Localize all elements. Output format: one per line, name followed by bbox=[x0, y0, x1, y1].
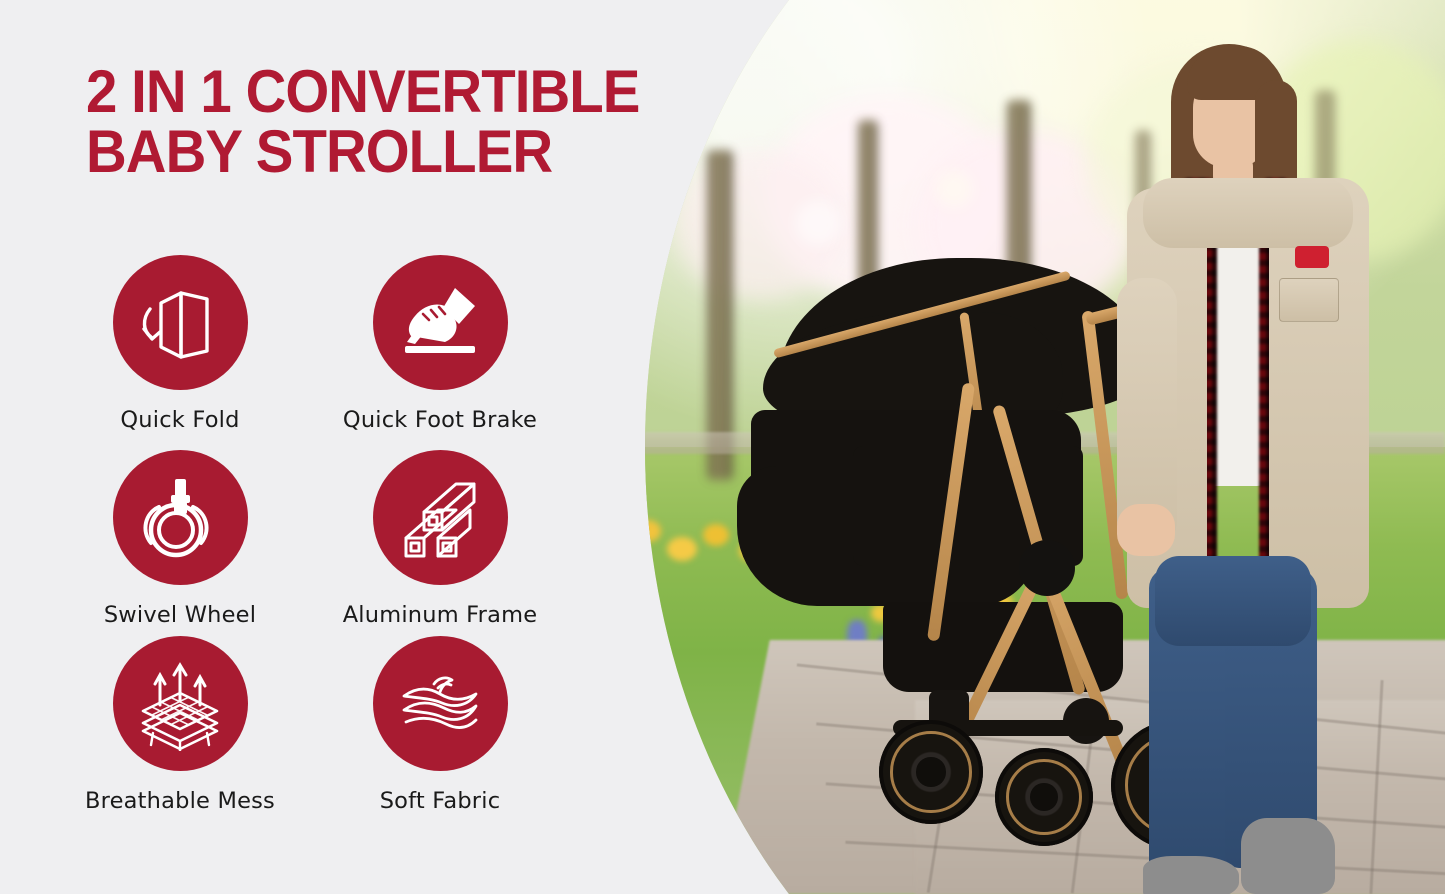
jacket-chest-pocket bbox=[1279, 278, 1339, 322]
product-photo-region bbox=[615, 0, 1445, 894]
feature-label: Swivel Wheel bbox=[50, 602, 310, 628]
aluminum-frame-icon bbox=[394, 472, 486, 564]
tree-trunk bbox=[707, 150, 733, 480]
feature-grid: Quick Fold Quick Foot Brake bbox=[0, 255, 700, 865]
headline-line-1: 2 IN 1 CONVERTIBLE bbox=[86, 62, 669, 122]
bokeh-highlight bbox=[935, 170, 973, 208]
swivel-wheel-icon bbox=[135, 473, 225, 563]
feature-item-quick-foot-brake: Quick Foot Brake bbox=[310, 255, 570, 433]
feature-item-soft-fabric: Soft Fabric bbox=[310, 636, 570, 814]
hand bbox=[1117, 504, 1175, 556]
jacket-shoulders bbox=[1143, 178, 1353, 248]
feature-label: Aluminum Frame bbox=[310, 602, 570, 628]
headline-line-2: BABY STROLLER bbox=[86, 122, 669, 182]
feature-item-quick-fold: Quick Fold bbox=[50, 255, 310, 433]
fold-icon bbox=[134, 277, 226, 369]
page-title: 2 IN 1 CONVERTIBLE BABY STROLLER bbox=[86, 62, 669, 182]
feature-icon-badge bbox=[113, 255, 248, 390]
sneaker-right bbox=[1241, 818, 1335, 894]
wheel-hub bbox=[916, 757, 945, 786]
feature-label: Quick Fold bbox=[50, 407, 310, 433]
sneaker-left bbox=[1143, 856, 1239, 894]
wheel-hub bbox=[1030, 783, 1057, 810]
photo-ellipse-mask bbox=[615, 0, 1445, 894]
lifestyle-photo bbox=[615, 0, 1445, 894]
daffodil bbox=[667, 537, 697, 561]
middle-wheel bbox=[995, 748, 1093, 846]
front-wheel bbox=[879, 720, 983, 824]
feature-label: Breathable Mess bbox=[50, 788, 310, 814]
feature-label: Quick Foot Brake bbox=[310, 407, 570, 433]
bokeh-highlight bbox=[795, 200, 841, 246]
feature-item-aluminum-frame: Aluminum Frame bbox=[310, 450, 570, 628]
model-person bbox=[1083, 28, 1383, 894]
jacket-logo-patch bbox=[1295, 246, 1329, 268]
feature-icon-badge bbox=[113, 450, 248, 585]
jeans-hip bbox=[1155, 556, 1311, 646]
feature-label: Soft Fabric bbox=[310, 788, 570, 814]
foot-brake-icon bbox=[393, 276, 487, 370]
feature-icon-badge bbox=[373, 255, 508, 390]
feature-icon-badge bbox=[113, 636, 248, 771]
daffodil bbox=[703, 524, 729, 546]
left-content-panel: 2 IN 1 CONVERTIBLE BABY STROLLER Q bbox=[0, 0, 700, 894]
infographic-canvas: 2 IN 1 CONVERTIBLE BABY STROLLER Q bbox=[0, 0, 1445, 894]
feature-item-breathable-mesh: Breathable Mess bbox=[50, 636, 310, 814]
feature-item-swivel-wheel: Swivel Wheel bbox=[50, 450, 310, 628]
breathable-mesh-icon bbox=[133, 657, 227, 751]
daffodil bbox=[635, 520, 661, 542]
feature-icon-badge bbox=[373, 450, 508, 585]
feature-icon-badge bbox=[373, 636, 508, 771]
frame-hinge bbox=[1019, 540, 1075, 596]
soft-fabric-icon bbox=[394, 658, 486, 750]
